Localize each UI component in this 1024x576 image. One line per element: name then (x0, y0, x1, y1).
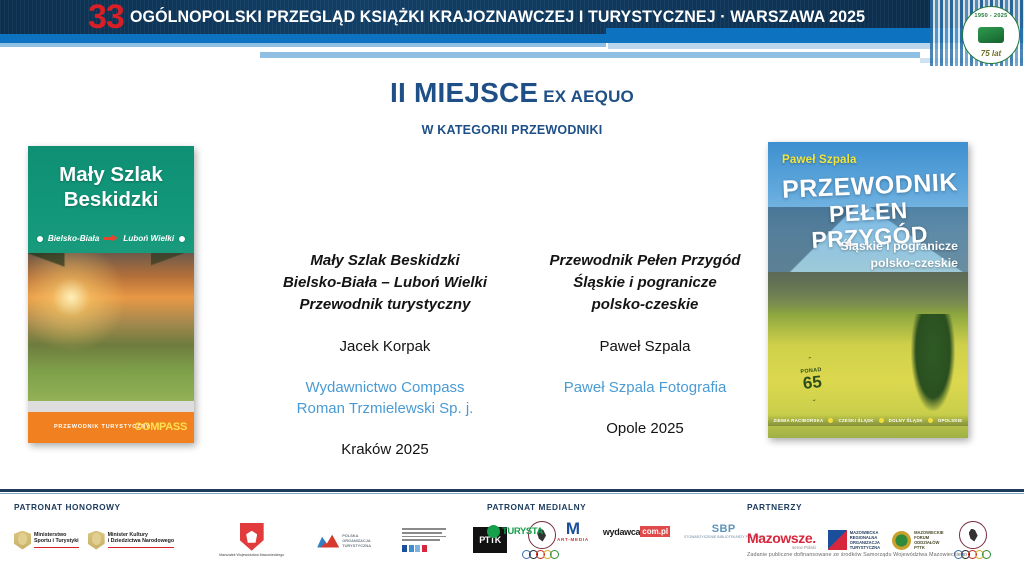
art-media-label: ART-MEDIA (557, 537, 589, 542)
mrot-line4: TURYSTYCZNA (850, 545, 880, 550)
anniversary-logo: 1950 - 2025 75 lat (962, 6, 1020, 64)
mrot-label: MAZOWIECKA REGIONALNA ORGANIZACJA TURYST… (850, 530, 880, 551)
route-arrow-icon (103, 235, 119, 242)
region-dot-icon-1 (828, 418, 833, 423)
flagbar-1 (402, 545, 407, 552)
wydawca-part1: wydawca (603, 527, 640, 537)
region-dot-icon-2 (879, 418, 884, 423)
sport-underline (34, 547, 79, 549)
logo-polska-organizacja-turystyczna: POLSKA ORGANIZACJA TURYSTYCZNA (317, 533, 371, 548)
right-cover-subtitle-line2: polsko-czeskie (808, 255, 958, 272)
footer-divider (0, 489, 1024, 492)
right-cover-subtitle-line1: Śląskie i pogranicze (808, 238, 958, 255)
entry-right-title: Przewodnik Pełen Przygód Śląskie i pogra… (520, 250, 770, 316)
region-1: CZESKI ŚLĄSK (838, 418, 873, 423)
entry-left-city-year: Kraków 2025 (240, 439, 530, 460)
me-flagbars (402, 545, 448, 552)
shield-eagle-icon (240, 523, 264, 551)
award-place: II MIEJSCE (390, 77, 538, 108)
route-dot-end-icon (178, 235, 186, 243)
left-cover-title-line1: Mały Szlak (28, 162, 194, 187)
left-cover-photo-trees (28, 253, 194, 402)
award-place-line: II MIEJSCEEX AEQUO (0, 78, 1024, 112)
flagbar-2 (409, 545, 414, 552)
sbp-label: SBP (712, 523, 736, 535)
footer-logos-honorowy: Ministerstwo Sportu i Turystyki Minister… (14, 521, 559, 559)
footer-logos-medialny: TURYSTA M ART-MEDIA wydawca com.pl SBP S… (487, 521, 763, 542)
anniversary-label: 75 lat (965, 49, 1017, 58)
me-line-2 (402, 532, 442, 534)
marszalek-caption: Marszałek Województwa Mazowieckiego (219, 553, 284, 558)
entry-right-title-line-1: Śląskie i pogranicze (520, 272, 770, 294)
funding-disclaimer: Zadanie publiczne dofinansowane ze środk… (747, 552, 1019, 558)
entry-left-publisher-line-1: Roman Trzmielewski Sp. j. (240, 398, 530, 419)
entry-right-title-line-0: Przewodnik Pełen Przygód (520, 250, 770, 272)
footer-heading-honorowy: PATRONAT HONOROWY (14, 502, 559, 512)
route-dot-icon (36, 235, 44, 243)
mfo-label: MAZOWIECKIE FORUM ODDZIAŁÓW PTTK (914, 530, 944, 551)
right-cover-author: Paweł Szpala (782, 154, 857, 166)
kultura-line2: i Dziedzictwa Narodowego (108, 538, 175, 544)
entry-text-right: Przewodnik Pełen Przygód Śląskie i pogra… (520, 250, 770, 439)
logo-minister-kultury: Minister Kultury i Dziedzictwa Narodoweg… (88, 531, 175, 550)
entry-left-title-line-0: Mały Szlak Beskidzki (240, 250, 530, 272)
entry-left-title: Mały Szlak Beskidzki Bielsko-Biała – Lub… (240, 250, 530, 316)
logo-mazowsze: Mazowsze. serce Polski (747, 531, 816, 550)
region-dot-icon-3 (928, 418, 933, 423)
ring-green (550, 550, 559, 559)
footer: PATRONAT HONOROWY Ministerstwo Sportu i … (0, 496, 1024, 576)
award-category: W KATEGORII PRZEWODNIKI (0, 123, 1024, 137)
olympic-rings-icon (524, 550, 559, 559)
wydawca-part2: com.pl (640, 526, 670, 537)
book-cover-left: Mały Szlak Beskidzki Bielsko-Biała Luboń… (28, 146, 194, 443)
logo-ministerstwo-edukacji (402, 528, 448, 551)
footer-section-patronat-medialny: PATRONAT MEDIALNY TURYSTA M ART-MEDIA wy… (487, 502, 763, 542)
pot-label: POLSKA ORGANIZACJA TURYSTYCZNA (342, 533, 371, 548)
compass-logo: COMPASS (134, 421, 187, 433)
anniversary-years: 1950 - 2025 (965, 13, 1017, 19)
entry-left-publisher: Wydawnictwo Compass Roman Trzmielewski S… (240, 377, 530, 419)
mrot-mark-icon (828, 530, 847, 550)
edition-number: 33 (88, 0, 124, 35)
sport-line1: Ministerstwo (34, 532, 66, 538)
entry-left-title-line-2: Przewodnik turystyczny (240, 294, 530, 316)
logo-art-media: M ART-MEDIA (557, 521, 589, 542)
footer-divider-light (0, 493, 1024, 494)
badge-number: 65 (802, 373, 823, 392)
header-lightblue-band-1 (0, 43, 606, 47)
logo-wydawca: wydawca com.pl (603, 526, 670, 537)
anniversary-logo-inner: 1950 - 2025 75 lat (965, 9, 1017, 61)
header-title: OGÓLNOPOLSKI PRZEGLĄD KSIĄŻKI KRAJOZNAWC… (130, 6, 865, 28)
award-ex-aequo: EX AEQUO (543, 87, 634, 106)
flagbar-4 (422, 545, 427, 552)
me-line-4 (402, 539, 440, 541)
entry-right-title-line-2: polsko-czeskie (520, 294, 770, 316)
right-cover-town (768, 272, 968, 313)
entry-left-title-line-1: Bielsko-Biała – Luboń Wielki (240, 272, 530, 294)
region-2: DOLNY ŚLĄSK (889, 418, 923, 423)
me-line-1 (402, 528, 446, 530)
entry-right-author: Paweł Szpala (520, 336, 770, 357)
mazowsze-label: Mazowsze. (747, 531, 816, 545)
me-line-3 (402, 536, 446, 538)
athlete-icon-2 (969, 529, 978, 542)
footer-heading-partnerzy: PARTNERZY (747, 502, 991, 512)
footer-section-patronat-honorowy: PATRONAT HONOROWY Ministerstwo Sportu i … (14, 502, 559, 559)
polska-mark-icon (317, 533, 339, 548)
left-cover-route: Bielsko-Biała Luboń Wielki (28, 234, 194, 243)
pttk-emblem-icon (978, 27, 1004, 43)
entry-right-city-year: Opole 2025 (520, 418, 770, 439)
kultura-underline (108, 547, 175, 549)
left-cover-title-line2: Beskidzki (28, 187, 194, 212)
eagle-icon-2 (88, 531, 105, 550)
right-cover-region-strip: ZIEMIA RACIBORSKA CZESKI ŚLĄSK DOLNY ŚLĄ… (768, 415, 968, 426)
olympic-seal-icon-2 (959, 521, 987, 549)
book-cover-right: Paweł Szpala PRZEWODNIK PEŁEN PRZYGÓD Śl… (768, 142, 968, 438)
logo-mazowieckie-forum-pttk: MAZOWIECKIE FORUM ODDZIAŁÓW PTTK (892, 530, 944, 551)
right-cover-subtitle: Śląskie i pogranicze polsko-czeskie (808, 238, 958, 272)
header-lightblue-band-3 (260, 52, 920, 58)
flagbar-3 (415, 545, 420, 552)
logo-marszalek-mazowieckiego: Marszałek Województwa Mazowieckiego (219, 523, 284, 558)
left-cover-bottom-band: PRZEWODNIK TURYSTYCZNY COMPASS (28, 412, 194, 443)
mazowsze-sublabel: serce Polski (792, 545, 816, 550)
entry-right-publisher: Paweł Szpala Fotografia (520, 377, 770, 398)
entry-left-publisher-line-0: Wydawnictwo Compass (240, 377, 530, 398)
mfo-mark-icon (892, 531, 911, 550)
eagle-icon (14, 531, 31, 550)
entry-left-author: Jacek Korpak (240, 336, 530, 357)
header-bar: 33 OGÓLNOPOLSKI PRZEGLĄD KSIĄŻKI KRAJOZN… (0, 0, 1024, 66)
sport-line2: Sportu i Turystyki (34, 538, 79, 544)
kultura-line1: Minister Kultury (108, 532, 148, 538)
logo-label-sport: Ministerstwo Sportu i Turystyki (34, 532, 79, 549)
logo-label-kultura: Minister Kultury i Dziedzictwa Narodoweg… (108, 532, 175, 549)
footer-section-partnerzy: PARTNERZY Mazowsze. serce Polski MAZOWIE… (747, 502, 991, 559)
route-from: Bielsko-Biała (48, 234, 99, 243)
left-cover-title: Mały Szlak Beskidzki (28, 162, 194, 212)
art-media-letter: M (566, 521, 580, 537)
region-3: OPOLSKIE (938, 418, 963, 423)
turysta-icon (487, 525, 500, 538)
region-0: ZIEMIA RACIBORSKA (774, 418, 824, 423)
route-to: Luboń Wielki (123, 234, 174, 243)
turysta-label: TURYSTA (502, 526, 543, 537)
logo-mrot: MAZOWIECKA REGIONALNA ORGANIZACJA TURYST… (828, 530, 880, 551)
entry-text-left: Mały Szlak Beskidzki Bielsko-Biała – Lub… (240, 250, 530, 460)
footer-heading-medialny: PATRONAT MEDIALNY (487, 502, 763, 512)
white-eagle-icon (246, 531, 257, 543)
slide-root: 33 OGÓLNOPOLSKI PRZEGLĄD KSIĄŻKI KRAJOZN… (0, 0, 1024, 576)
award-title-block: II MIEJSCEEX AEQUO W KATEGORII PRZEWODNI… (0, 78, 1024, 137)
logo-ministerstwo-sportu: Ministerstwo Sportu i Turystyki (14, 531, 79, 550)
mfo-line4: PTTK (914, 545, 925, 550)
right-cover-tree (911, 314, 955, 412)
logo-turysta: TURYSTA (487, 525, 543, 538)
pot-line3: TURYSTYCZNA (342, 543, 371, 548)
